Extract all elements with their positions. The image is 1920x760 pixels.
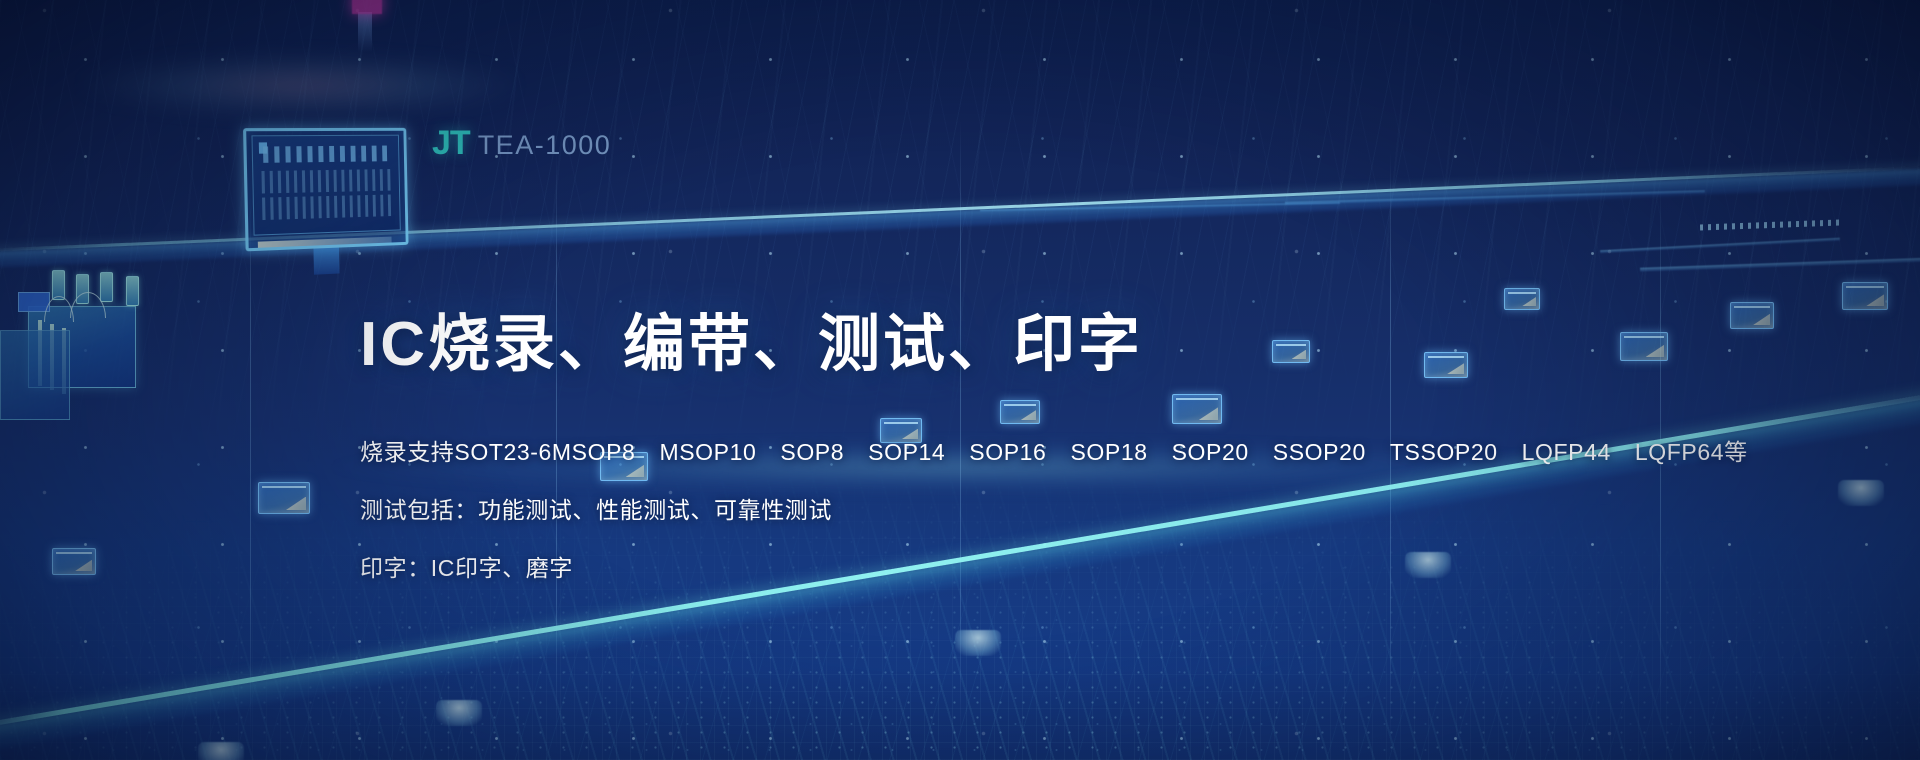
machine-cylinder: [126, 276, 139, 306]
package-label: LQFP44: [1522, 439, 1611, 466]
page-title: IC烧录、编带、测试、印字: [360, 312, 1660, 377]
machine-secondary: [0, 330, 70, 420]
hero-text-block: IC烧录、编带、测试、印字 烧录支持SOT23-6MSOP8MSOP10SOP8…: [360, 312, 1660, 583]
ceiling-light-stem: [358, 12, 372, 52]
equipment-brand-logo: JT TEA-1000: [432, 124, 611, 163]
hero-banner: JT TEA-1000 IC烧录、编带、测试、印字 烧录支持SOT23-6MSO…: [0, 0, 1920, 760]
brand-model: TEA-1000: [478, 130, 612, 161]
monitor-ui-grid: [262, 194, 392, 220]
package-label: SOP20: [1172, 439, 1249, 466]
package-label: SSOP20: [1273, 439, 1366, 466]
package-label: TSSOP20: [1390, 439, 1498, 466]
rear-rack-dots: [1700, 220, 1840, 231]
monitor-ui-grid: [261, 169, 391, 193]
monitor-screen: [243, 128, 409, 252]
package-label: SOP8: [780, 439, 844, 466]
brand-name: JT: [432, 124, 470, 163]
rear-rack-beam: [1640, 256, 1920, 272]
ic-chip-icon: [1730, 302, 1774, 329]
rail-foot: [1838, 480, 1884, 506]
package-label: SOP18: [1070, 439, 1147, 466]
package-label: LQFP64等: [1635, 433, 1748, 467]
magenta-indicator-light: [352, 0, 382, 14]
monitor-stand: [313, 248, 339, 275]
burn-support-prefix: 烧录支持SOT23-6: [360, 439, 552, 465]
rail-foot: [955, 630, 1001, 656]
ic-chip-icon: [1504, 288, 1540, 310]
machine-cylinder: [100, 272, 113, 302]
ic-chip-icon: [52, 548, 96, 575]
rail-foot: [198, 742, 244, 760]
package-label: MSOP10: [659, 439, 756, 466]
subtitle-burn-support: 烧录支持SOT23-6MSOP8MSOP10SOP8SOP14SOP16SOP1…: [360, 433, 1660, 467]
pillar-line: [250, 180, 251, 740]
subtitle-test-scope: 测试包括：功能测试、性能测试、可靠性测试: [360, 491, 1660, 525]
monitor-display: [251, 135, 400, 236]
subtitle-marking: 印字：IC印字、磨字: [360, 549, 1660, 583]
rail-foot: [436, 700, 482, 726]
package-label: MSOP8: [552, 439, 636, 466]
ic-chip-icon: [1842, 282, 1888, 310]
monitor-ui-row: [263, 146, 389, 163]
package-label: SOP14: [868, 439, 945, 466]
rear-rack-beam: [1600, 238, 1840, 254]
ic-chip-icon: [258, 482, 310, 514]
package-list: MSOP8MSOP10SOP8SOP14SOP16SOP18SOP20SSOP2…: [552, 439, 1748, 465]
package-label: SOP16: [969, 439, 1046, 466]
